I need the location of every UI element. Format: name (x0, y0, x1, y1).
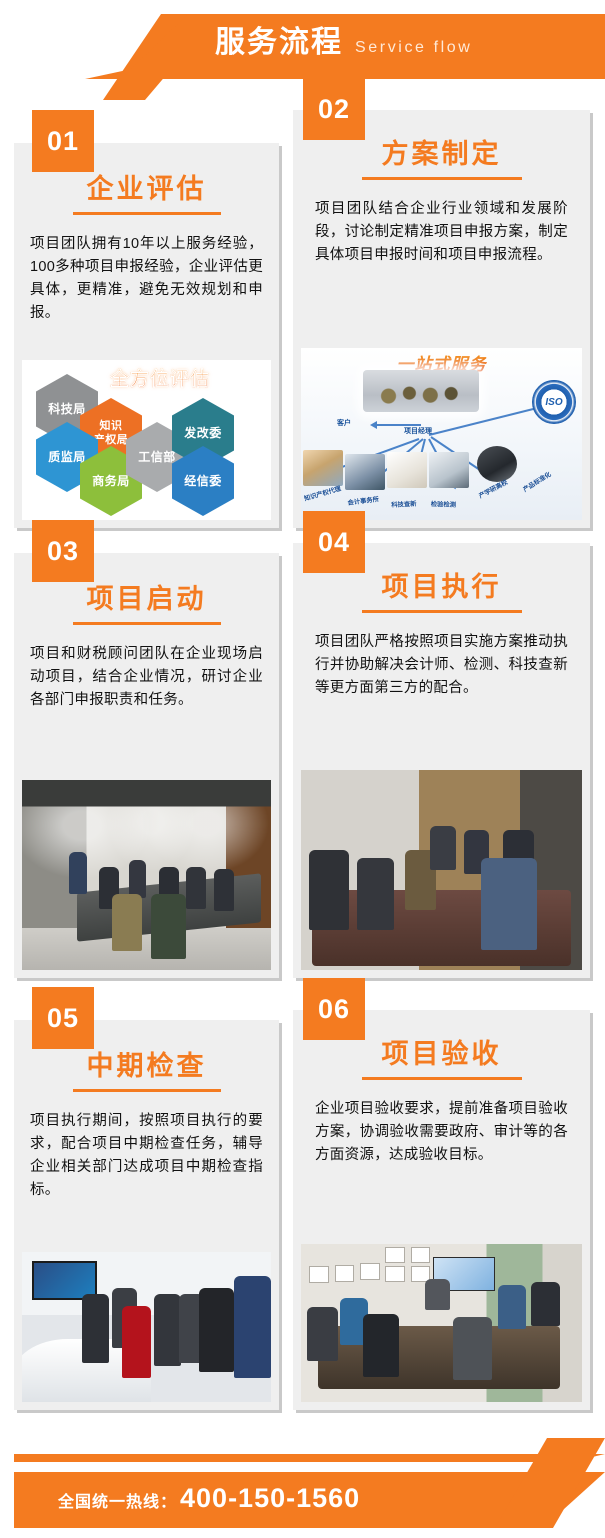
infographic-page: 服务流程 Service flow 01 企业评估 项目团队拥有10年以上服务经… (0, 0, 605, 1538)
step-description: 项目和财税顾问团队在企业现场启动项目，结合企业情况，研讨企业各部门申报职责和任务… (14, 625, 279, 726)
person (186, 867, 206, 909)
service-thumb (477, 446, 517, 482)
person (531, 1282, 559, 1326)
certificate-frame (335, 1265, 355, 1282)
iso-seal-icon: ISO (532, 380, 576, 424)
node-project-manager-label: 项目经理 (404, 426, 432, 436)
person (425, 1279, 450, 1311)
exhibition-hall-photo: exhibition-hall-photo (22, 1252, 271, 1402)
hexagon-assessment-diagram: 全方位评估 科技局 知识产权局 质监局 商务局 工信部 发改委 经信委 (22, 360, 271, 520)
step-description: 项目团队结合企业行业领域和发展阶段，讨论制定精准项目申报方案，制定具体项目申报时… (293, 180, 590, 281)
footer-line-shape (14, 1454, 605, 1462)
service-label: 科技查新 (391, 499, 417, 509)
step-description: 企业项目验收要求，提前准备项目验收方案，协调验收需要政府、审计等的各方面资源，达… (293, 1080, 590, 1181)
person (430, 826, 455, 870)
person (69, 852, 86, 894)
service-thumb (429, 452, 469, 488)
person (214, 869, 234, 911)
step-description: 项目团队拥有10年以上服务经验，100多种项目申报经验，企业评估更具体，更精准，… (14, 215, 279, 339)
certificate-frame (309, 1266, 329, 1283)
step-card-05[interactable]: 05 中期检查 项目执行期间，按照项目执行的要求，配合项目中期检查任务，辅导企业… (14, 1020, 279, 1410)
person (357, 858, 394, 930)
person (234, 1276, 271, 1378)
certificate-frame (385, 1247, 405, 1263)
step-description: 项目执行期间，按照项目执行的要求，配合项目中期检查任务，辅导企业相关部门达成项目… (14, 1092, 279, 1216)
step-number-badge: 03 (32, 520, 94, 582)
header-title-group: 服务流程 Service flow (215, 26, 472, 60)
certificate-frame (360, 1263, 380, 1280)
hexagon-diagram-title: 全方位评估 (110, 364, 210, 391)
certificate-frame (411, 1247, 431, 1263)
header-title-en: Service flow (355, 39, 472, 57)
service-label: 产品标准化 (521, 469, 552, 493)
person (122, 1306, 152, 1378)
service-label: 会计事务所 (347, 494, 379, 507)
step-card-03[interactable]: 03 项目启动 项目和财税顾问团队在企业现场启动项目，结合企业情况，研讨企业各部… (14, 553, 279, 978)
service-label: 检验检测 (431, 499, 456, 509)
person (307, 1307, 338, 1361)
step-card-06[interactable]: 06 项目验收 企业项目验收要求，提前准备项目验收方案，协调验收需要政府、审计等… (293, 1010, 590, 1410)
conference-room-photo: conference-room-photo (22, 780, 271, 970)
hotline-number[interactable]: 400-150-1560 (180, 1483, 360, 1514)
person (129, 860, 146, 898)
meeting-thumbnail (363, 370, 479, 412)
person (199, 1288, 234, 1372)
node-client-label: 客户 (337, 418, 351, 428)
one-stop-service-diagram: 一站式服务 客户 项目经理 ISO 知识产权代理 会计事务所 科 (301, 348, 582, 520)
person (82, 1294, 109, 1363)
service-thumb (303, 450, 343, 486)
person (498, 1285, 526, 1329)
floor (22, 928, 271, 970)
footer-banner: 全国统一热线： 400-150-1560 (0, 1418, 605, 1538)
step-number-badge: 01 (32, 110, 94, 172)
certificate-frame (385, 1266, 405, 1282)
step-description: 项目团队严格按照项目实施方案推动执行并协助解决会计师、检测、科技查新等更方面第三… (293, 613, 590, 714)
step-number-badge: 05 (32, 987, 94, 1049)
meeting-room-photo: meeting-room-photo (301, 770, 582, 970)
step-number-badge: 04 (303, 511, 365, 573)
person (309, 850, 348, 930)
header-title-cn: 服务流程 (215, 26, 343, 60)
step-number-badge: 06 (303, 978, 365, 1040)
step-card-02[interactable]: 02 方案制定 项目团队结合企业行业领域和发展阶段，讨论制定精准项目申报方案，制… (293, 110, 590, 528)
person (151, 894, 186, 959)
hotline-group: 全国统一热线： 400-150-1560 (58, 1483, 360, 1514)
person (363, 1314, 400, 1377)
flow-arrow (375, 424, 421, 426)
person (453, 1317, 492, 1380)
hotline-label: 全国统一热线： (58, 1488, 177, 1512)
step-card-01[interactable]: 01 企业评估 项目团队拥有10年以上服务经验，100多种项目申报经验，企业评估… (14, 143, 279, 528)
service-label: 知识产权代理 (303, 484, 342, 503)
person (481, 858, 537, 950)
step-number-badge: 02 (303, 78, 365, 140)
service-thumb (345, 454, 385, 490)
person (154, 1294, 181, 1366)
person (112, 894, 142, 951)
service-thumb (387, 452, 427, 488)
certificate-meeting-photo: certificate-meeting-photo (301, 1244, 582, 1402)
step-card-04[interactable]: 04 项目执行 项目团队严格按照项目实施方案推动执行并协助解决会计师、检测、科技… (293, 543, 590, 978)
